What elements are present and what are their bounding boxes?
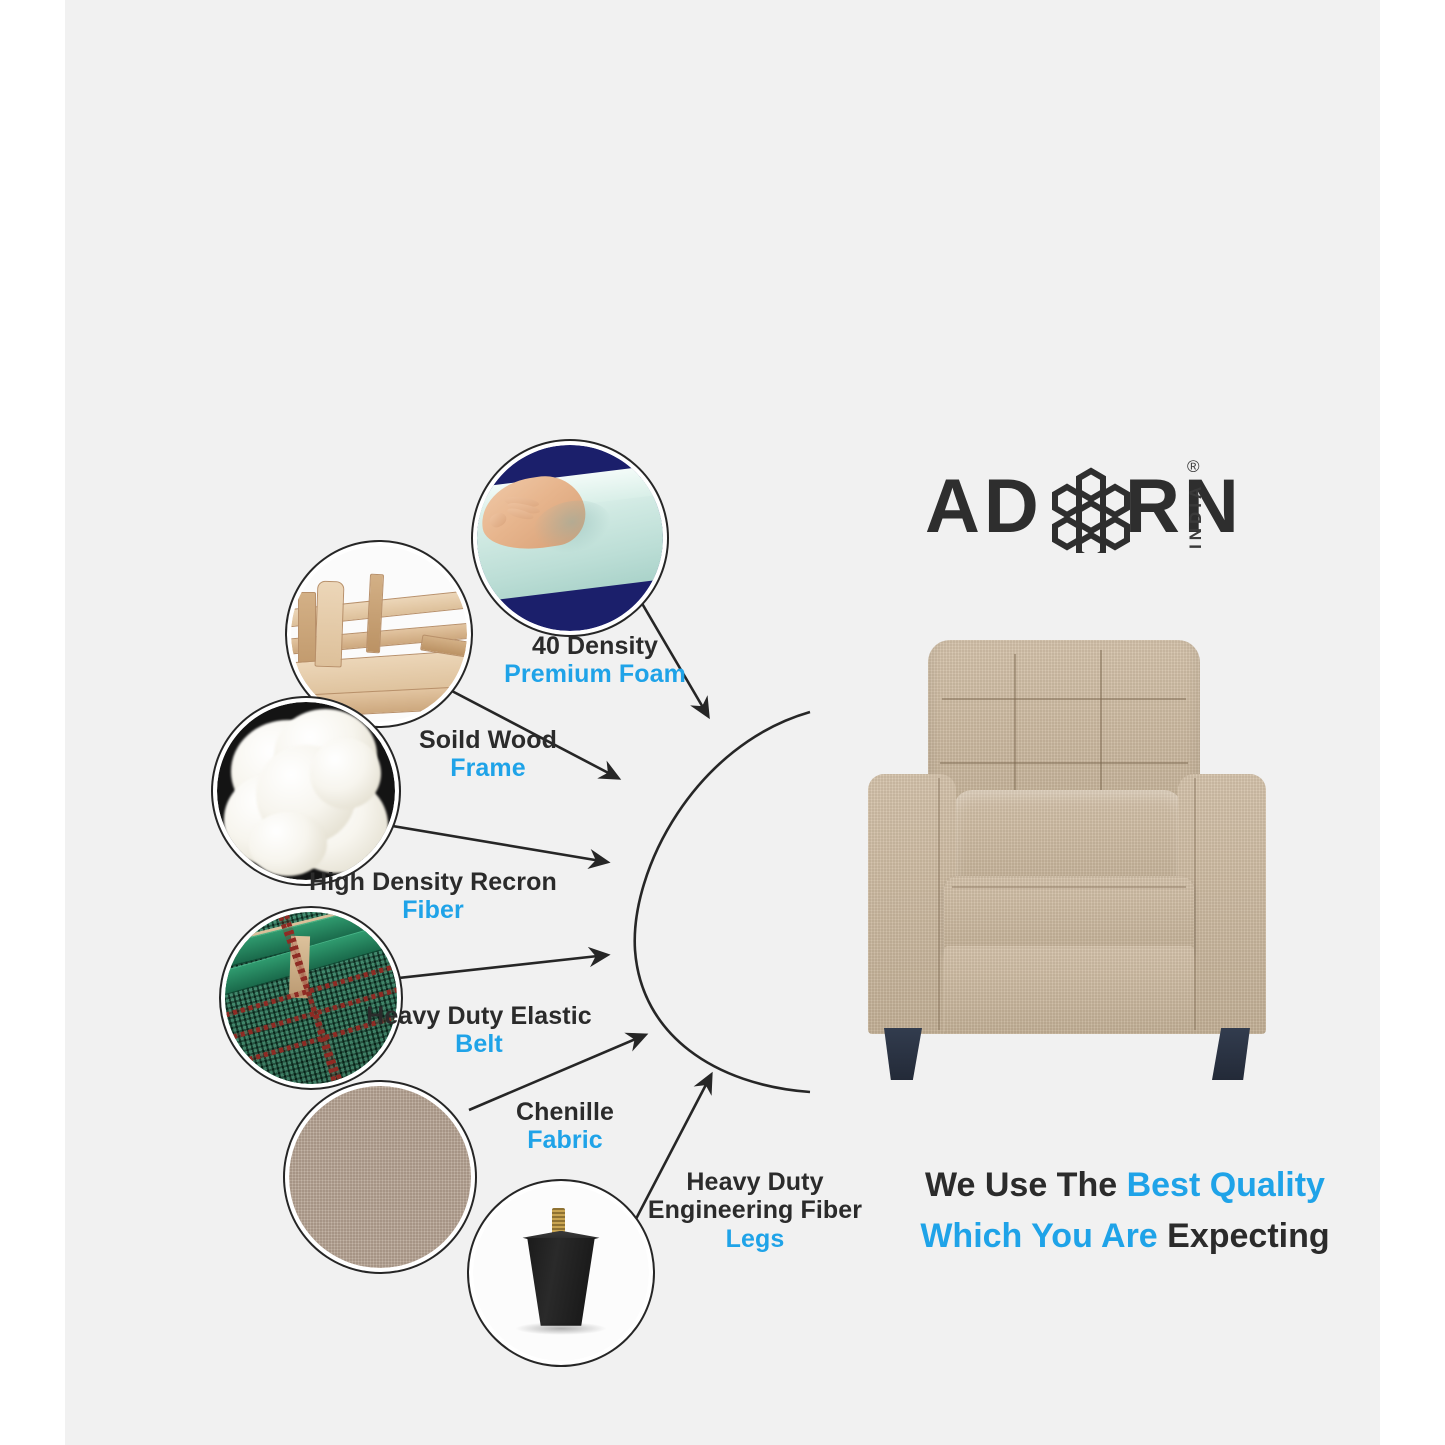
tagline-line1-blue: Best Quality (1127, 1166, 1325, 1204)
feature-image-fiber-legs (473, 1185, 649, 1361)
feature-image-recron-fiber (217, 702, 395, 880)
feature-title2-fiber-legs: Engineering Fiber (625, 1196, 885, 1224)
feature-subtitle-elastic-belt: Belt (335, 1030, 623, 1058)
feature-label-fiber-legs: Heavy Duty Engineering Fiber Legs (625, 1168, 885, 1253)
convergence-arc (635, 712, 810, 1092)
chair-base (944, 946, 1194, 1034)
infographic-page: 40 Density Premium Foam Soild Wood Frame… (0, 0, 1445, 1445)
tagline-line1-dark: We Use The (925, 1166, 1127, 1204)
registered-trademark-icon: ® (1187, 457, 1200, 477)
feature-title-elastic-belt: Heavy Duty Elastic (366, 1002, 592, 1030)
tagline-line2-blue: Which You Are (920, 1217, 1167, 1255)
tagline-line-1: We Use The Best Quality (885, 1160, 1365, 1211)
feature-subtitle-fiber-legs: Legs (625, 1225, 885, 1253)
honeycomb-hexagon-icon (1045, 465, 1137, 553)
feature-image-premium-foam (477, 445, 663, 631)
tagline-line-2: Which You Are Expecting (885, 1211, 1365, 1262)
feature-image-chenille-fabric (289, 1086, 471, 1268)
tagline-line2-dark: Expecting (1167, 1217, 1329, 1255)
feature-label-recron-fiber: High Density Recron Fiber (283, 868, 583, 925)
product-armchair-image (860, 640, 1280, 1080)
chair-arm-left (868, 774, 956, 1034)
feature-subtitle-wood-frame: Frame (373, 754, 603, 782)
chair-leg-left (884, 1028, 922, 1080)
brand-logo: AD RN INDIA ® (925, 455, 1255, 560)
feature-title-wood-frame: Soild Wood (419, 726, 557, 754)
feature-label-chenille-fabric: Chenille Fabric (465, 1098, 665, 1155)
content-canvas: 40 Density Premium Foam Soild Wood Frame… (65, 0, 1380, 1445)
feature-title-chenille-fabric: Chenille (516, 1098, 614, 1126)
tagline: We Use The Best Quality Which You Are Ex… (885, 1160, 1365, 1262)
feature-subtitle-chenille-fabric: Fabric (465, 1126, 665, 1154)
brand-country: INDIA (1180, 469, 1206, 555)
feature-image-wood-frame (291, 546, 467, 722)
feature-subtitle-premium-foam: Premium Foam (480, 660, 710, 688)
feature-label-premium-foam: 40 Density Premium Foam (480, 632, 710, 689)
feature-title-recron-fiber: High Density Recron (309, 868, 557, 896)
feature-title-premium-foam: 40 Density (532, 632, 658, 660)
brand-name-prefix: AD (925, 463, 1043, 550)
chair-leg-right (1212, 1028, 1250, 1080)
feature-subtitle-recron-fiber: Fiber (283, 896, 583, 924)
feature-title-fiber-legs: Heavy Duty (686, 1168, 823, 1196)
feature-label-wood-frame: Soild Wood Frame (373, 726, 603, 783)
feature-label-elastic-belt: Heavy Duty Elastic Belt (335, 1002, 623, 1059)
